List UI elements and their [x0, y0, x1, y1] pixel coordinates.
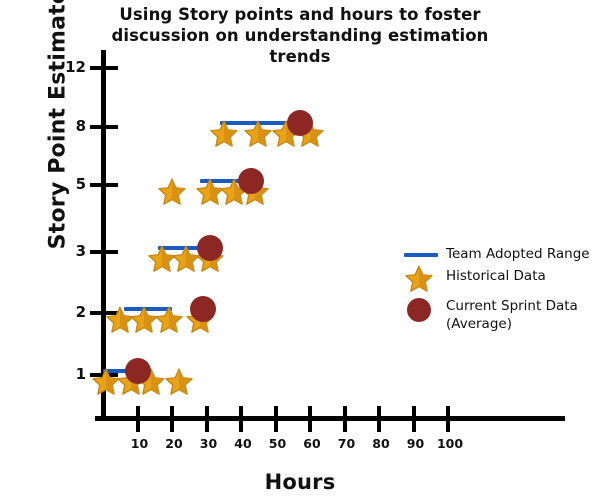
- chart-title: Using Story points and hours to foster d…: [110, 4, 490, 67]
- y-tick-label: 1: [52, 365, 86, 383]
- y-tick-mark: [90, 66, 118, 70]
- legend-item-label: Current Sprint Data (Average): [446, 297, 578, 334]
- legend-item-label: Historical Data: [446, 267, 546, 286]
- y-tick-label: 3: [52, 242, 86, 260]
- y-tick-label: 12: [52, 58, 86, 76]
- y-tick-mark: [90, 250, 118, 254]
- current-sprint-data-dot: [287, 110, 313, 136]
- x-tick-mark: [446, 406, 450, 432]
- legend-item[interactable]: Current Sprint Data (Average): [402, 297, 578, 334]
- x-tick-label: 100: [430, 436, 470, 451]
- y-axis-line: [101, 50, 106, 420]
- current-sprint-data-dot: [125, 358, 151, 384]
- x-tick-mark: [377, 406, 381, 432]
- x-tick-mark: [274, 406, 278, 432]
- current-sprint-data-dot: [190, 296, 216, 322]
- historical-data-star-icon: [164, 367, 194, 397]
- historical-data-star-icon: [243, 119, 273, 149]
- x-axis-title: Hours: [180, 470, 420, 494]
- x-tick-mark: [412, 406, 416, 432]
- historical-data-star-icon: [154, 305, 184, 335]
- legend-item[interactable]: Team Adopted Range: [402, 245, 590, 265]
- y-tick-mark: [90, 125, 118, 129]
- legend-dot-icon: [402, 297, 446, 317]
- x-tick-mark: [170, 406, 174, 432]
- x-axis-line: [95, 416, 565, 421]
- legend-line-icon: [402, 245, 446, 265]
- x-tick-mark: [136, 406, 140, 432]
- y-tick-label: 8: [52, 117, 86, 135]
- x-tick-mark: [205, 406, 209, 432]
- y-tick-label: 2: [52, 303, 86, 321]
- chart-canvas: Using Story points and hours to foster d…: [0, 0, 600, 503]
- x-tick-mark: [343, 406, 347, 432]
- historical-data-star-icon: [209, 119, 239, 149]
- y-tick-label: 5: [52, 175, 86, 193]
- legend-item-label: Team Adopted Range: [446, 245, 590, 264]
- x-tick-mark: [308, 406, 312, 432]
- x-tick-mark: [239, 406, 243, 432]
- historical-data-star-icon: [157, 177, 187, 207]
- legend-item[interactable]: Historical Data: [402, 267, 546, 287]
- y-tick-mark: [90, 183, 118, 187]
- legend-star-icon: [402, 267, 446, 287]
- current-sprint-data-dot: [197, 235, 223, 261]
